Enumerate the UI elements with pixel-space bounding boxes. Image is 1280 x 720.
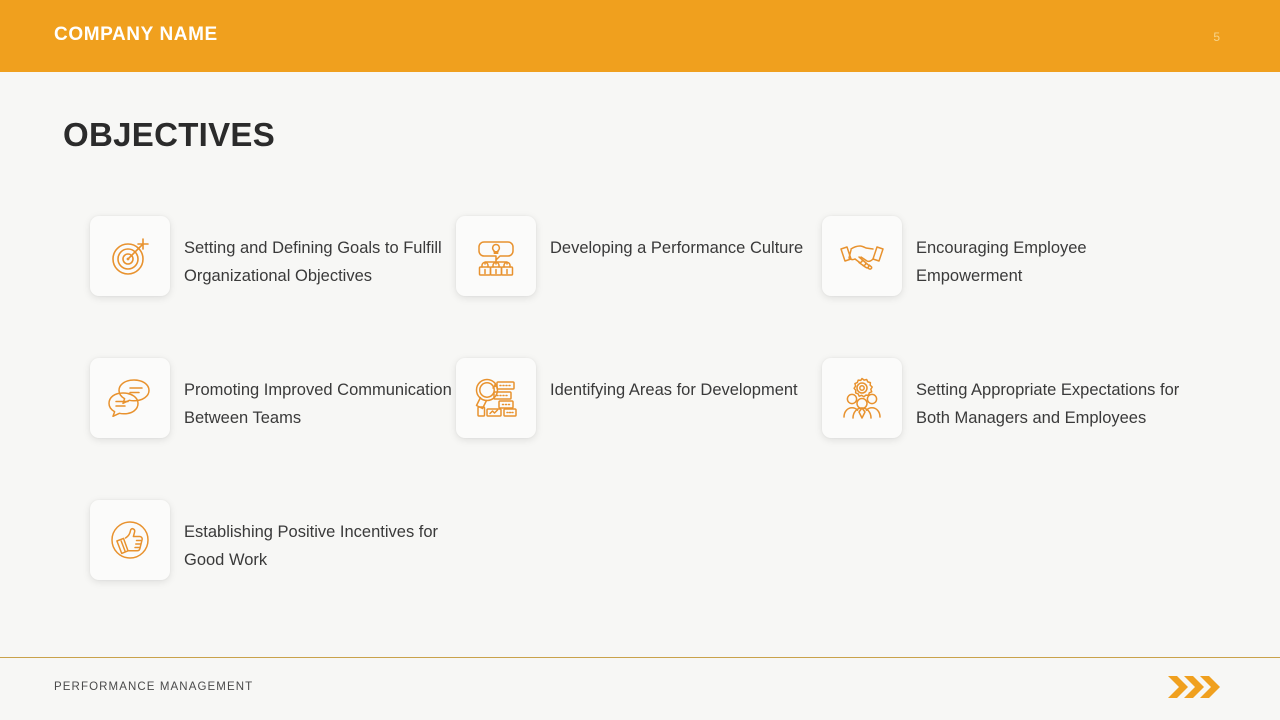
- objective-label: Encouraging Employee Empowerment: [916, 216, 1186, 290]
- objective-label: Setting and Defining Goals to Fulfill Or…: [184, 216, 454, 290]
- handshake-icon: [822, 216, 902, 296]
- footer-divider: [0, 657, 1280, 658]
- objective-label: Promoting Improved Communication Between…: [184, 358, 454, 432]
- objective-label: Identifying Areas for Development: [550, 358, 798, 404]
- team-idea-bubble-icon: [456, 216, 536, 296]
- header-bar: COMPANY NAME 5: [0, 0, 1280, 72]
- objective-item[interactable]: Setting and Defining Goals to Fulfill Or…: [90, 216, 456, 358]
- team-gear-icon: [822, 358, 902, 438]
- objective-item[interactable]: Setting Appropriate Expectations for Bot…: [822, 358, 1188, 500]
- objective-item[interactable]: Identifying Areas for Development: [456, 358, 822, 500]
- objective-label: Setting Appropriate Expectations for Bot…: [916, 358, 1186, 432]
- footer-label: PERFORMANCE MANAGEMENT: [54, 681, 253, 693]
- objective-label: Establishing Positive Incentives for Goo…: [184, 500, 454, 574]
- objective-item[interactable]: Encouraging Employee Empowerment: [822, 216, 1188, 358]
- objective-label: Developing a Performance Culture: [550, 216, 803, 262]
- page-title: OBJECTIVES: [63, 116, 275, 154]
- objectives-grid: Setting and Defining Goals to Fulfill Or…: [90, 216, 1200, 642]
- objective-item[interactable]: Developing a Performance Culture: [456, 216, 822, 358]
- chat-bubbles-icon: [90, 358, 170, 438]
- objective-item[interactable]: Establishing Positive Incentives for Goo…: [90, 500, 456, 642]
- company-name: COMPANY NAME: [54, 24, 218, 46]
- target-arrow-icon: [90, 216, 170, 296]
- magnifier-analysis-icon: [456, 358, 536, 438]
- thumbs-up-circle-icon: [90, 500, 170, 580]
- triple-chevron-right-icon: [1166, 672, 1222, 702]
- objective-item[interactable]: Promoting Improved Communication Between…: [90, 358, 456, 500]
- page-number: 5: [1213, 30, 1220, 44]
